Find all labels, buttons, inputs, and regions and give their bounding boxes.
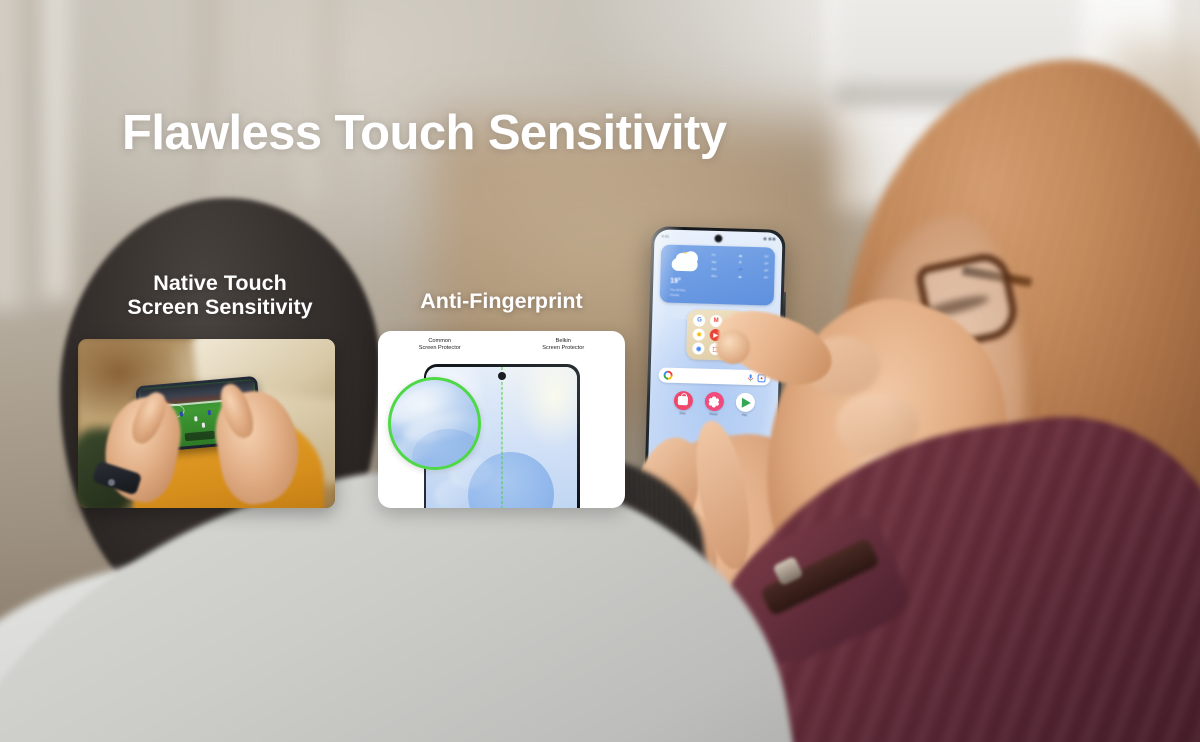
native-touch-line2: Screen Sensitivity	[127, 295, 312, 319]
chrome-icon[interactable]: ◉	[693, 342, 705, 354]
play-store-icon[interactable]: Play	[735, 393, 755, 413]
game-player	[208, 410, 211, 415]
flower-icon[interactable]: Photos	[704, 392, 724, 412]
weather-temperature: 19°	[670, 278, 681, 285]
wifi-icon	[768, 237, 771, 240]
comparison-labels: Common Screen Protector Belkin Screen Pr…	[378, 338, 625, 353]
common-type: Screen Protector	[378, 345, 502, 352]
anti-fingerprint-comparison-card: Common Screen Protector Belkin Screen Pr…	[378, 331, 625, 508]
search-input[interactable]	[677, 375, 744, 377]
status-bar: 9:41	[654, 229, 782, 246]
forecast-temp: 21°	[752, 253, 769, 257]
weather-forecast-row: Fri☁21°	[712, 252, 769, 259]
forecast-icon: ☁	[733, 273, 747, 278]
belkin-type: Screen Protector	[502, 345, 626, 352]
native-touch-line1: Native Touch	[153, 271, 286, 295]
forecast-day: Sun	[711, 266, 728, 270]
google-icon[interactable]: G	[693, 314, 705, 326]
cloud-icon	[672, 258, 698, 272]
forecast-icon: ☁	[734, 252, 748, 257]
comparison-divider-line	[501, 367, 502, 509]
game-player	[194, 416, 197, 421]
status-indicators	[763, 237, 775, 240]
app-label: Shop	[679, 412, 685, 415]
fingertip-touch-point	[716, 330, 750, 364]
microphone-icon[interactable]	[747, 373, 753, 381]
play-triangle-icon	[742, 397, 751, 407]
common-brand: Common	[428, 338, 451, 344]
fitness-band-face	[108, 479, 115, 486]
signal-icon	[763, 237, 766, 240]
front-camera-punch-hole	[715, 235, 722, 242]
weather-forecast-row: Sun☔18°	[711, 266, 768, 273]
shopping-icon[interactable]: Shop	[673, 391, 693, 411]
flower-glyph	[708, 395, 720, 407]
app-label: Play	[742, 414, 747, 417]
native-touch-photo-card	[78, 339, 335, 508]
photos-icon[interactable]: ✹	[693, 328, 705, 340]
window-frame	[300, 0, 338, 200]
anti-fingerprint-label: Anti-Fingerprint	[378, 289, 625, 313]
google-g-icon	[663, 371, 672, 380]
product-feature-banner: 9:41 19° Thu 04 Nov Cloudy	[0, 0, 1200, 742]
front-camera-punch-hole	[498, 372, 506, 380]
battery-icon	[772, 238, 775, 241]
weather-widget[interactable]: 19° Thu 04 Nov Cloudy Fri☁21°Sat☀23°Sun☔…	[660, 244, 776, 305]
forecast-day: Fri	[712, 252, 729, 256]
belkin-brand: Belkin	[556, 338, 571, 344]
forecast-temp: 18°	[751, 267, 768, 271]
magnifier-circle	[388, 377, 481, 470]
game-player	[202, 423, 205, 428]
weather-current: 19° Thu 04 Nov Cloudy	[666, 250, 712, 299]
forecast-temp: 23°	[752, 260, 769, 264]
comparison-label-belkin: Belkin Screen Protector	[502, 338, 626, 353]
bag-glyph	[678, 396, 688, 405]
weather-meta: Thu 04 Nov Cloudy	[670, 288, 686, 297]
forecast-icon: ☀	[733, 259, 747, 264]
forecast-icon: ☔	[733, 266, 747, 271]
native-touch-label: Native Touch Screen Sensitivity	[110, 271, 330, 320]
weather-forecast-row: Sat☀23°	[712, 259, 769, 266]
weather-condition: Cloudy	[670, 292, 679, 296]
status-time: 9:41	[661, 233, 669, 238]
window-frame	[44, 0, 70, 300]
forecast-day: Mon	[711, 273, 728, 277]
game-hud	[184, 431, 215, 442]
forecast-temp: 20°	[751, 274, 768, 278]
comparison-label-common: Common Screen Protector	[378, 338, 502, 353]
app-label: Photos	[709, 413, 717, 416]
weather-forecast-list: Fri☁21°Sat☀23°Sun☔18°Mon☁20°	[711, 251, 769, 301]
game-player	[180, 411, 183, 416]
window-frame	[0, 0, 42, 310]
forecast-day: Sat	[712, 259, 729, 263]
page-title: Flawless Touch Sensitivity	[122, 108, 726, 159]
weather-forecast-row: Mon☁20°	[711, 273, 768, 280]
